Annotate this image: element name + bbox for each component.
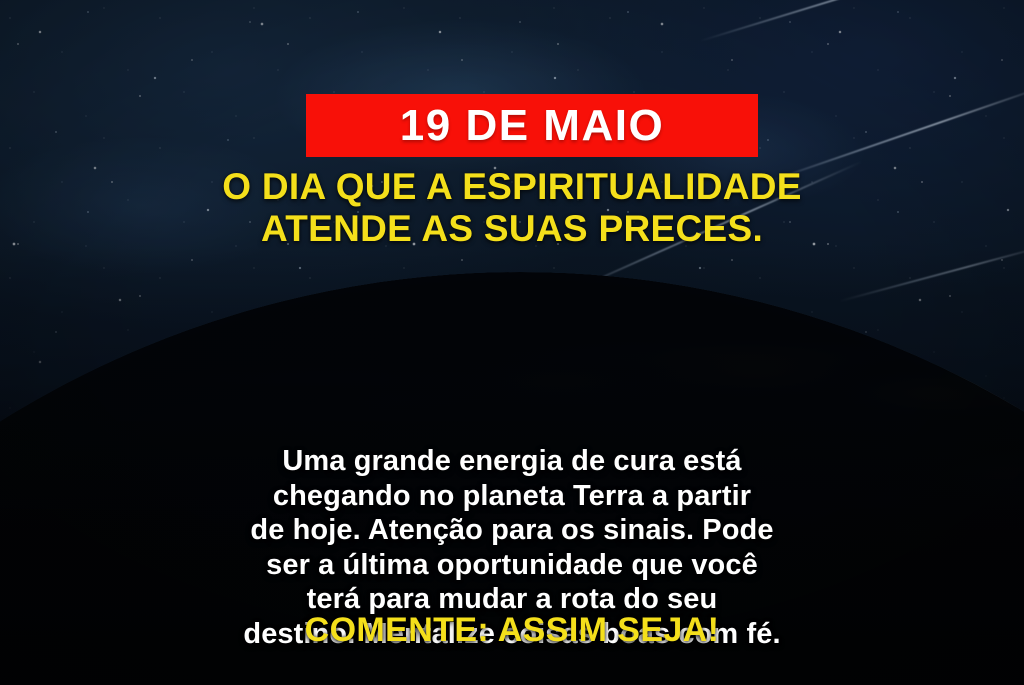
poster-content: 19 DE MAIO O DIA QUE A ESPIRITUALIDADE A… [0, 0, 1024, 685]
headline: O DIA QUE A ESPIRITUALIDADE ATENDE AS SU… [0, 166, 1024, 250]
call-to-action-label: COMENTE: ASSIM SEJA! [305, 611, 720, 649]
date-banner-label: 19 DE MAIO [400, 104, 664, 148]
body-copy-line-4: ser a última oportunidade que você [58, 548, 966, 583]
social-media-poster: 19 DE MAIO O DIA QUE A ESPIRITUALIDADE A… [0, 0, 1024, 685]
body-copy-line-3: de hoje. Atenção para os sinais. Pode [58, 513, 966, 548]
headline-line-2: ATENDE AS SUAS PRECES. [40, 208, 984, 250]
date-banner: 19 DE MAIO [306, 94, 758, 157]
call-to-action: COMENTE: ASSIM SEJA! [0, 613, 1024, 647]
body-copy-line-1: Uma grande energia de cura está [58, 444, 966, 479]
body-copy-line-2: chegando no planeta Terra a partir [58, 479, 966, 514]
headline-line-1: O DIA QUE A ESPIRITUALIDADE [40, 166, 984, 208]
